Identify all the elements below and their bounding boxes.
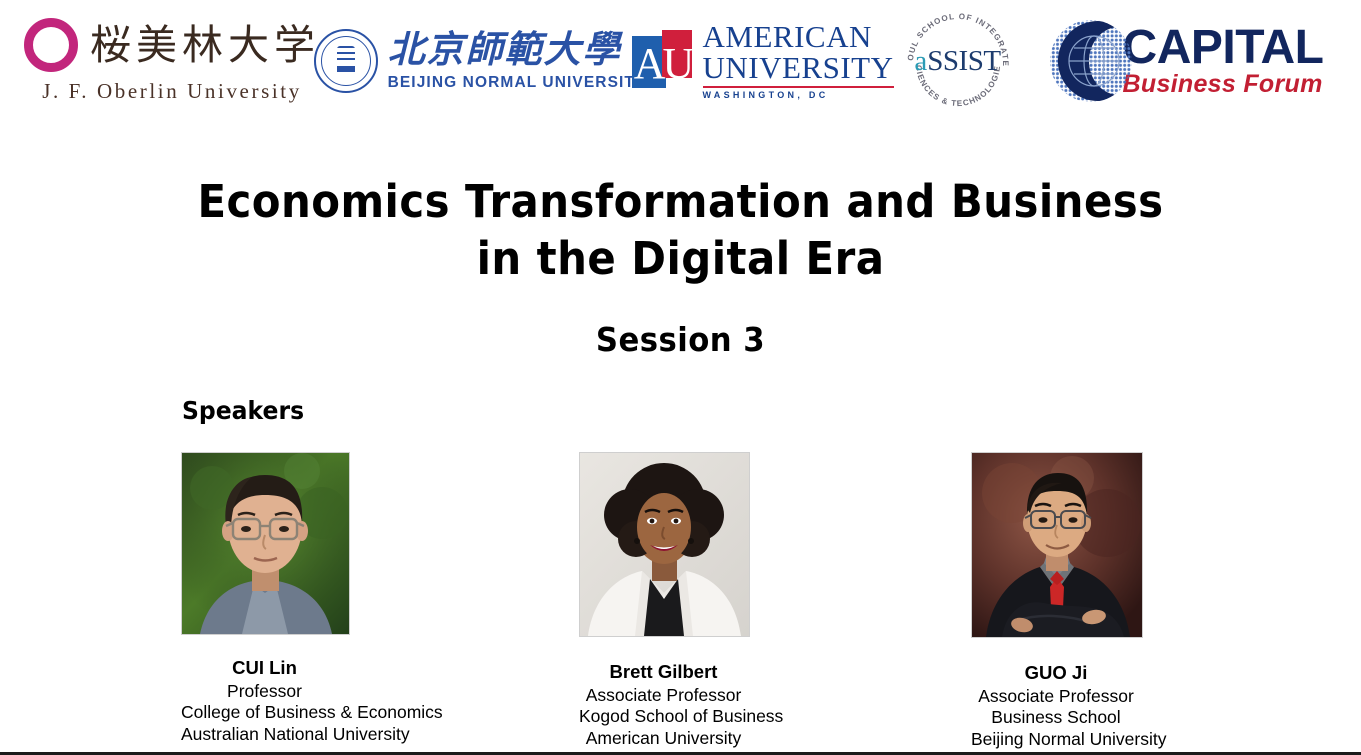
oberlin-flower-icon bbox=[24, 18, 78, 72]
portrait-brett-gilbert bbox=[579, 452, 750, 637]
page-title-line1: Economics Transformation and Business bbox=[48, 173, 1314, 230]
logo-capital-business-forum: CAPITAL Business Forum bbox=[1020, 0, 1350, 122]
bnu-seal-icon bbox=[314, 29, 378, 93]
speaker-caption-cui-lin: CUI Lin Professor College of Business & … bbox=[181, 657, 348, 745]
au-name-line2: UNIVERSITY bbox=[703, 53, 894, 83]
logo-american-university: AU AMERICAN UNIVERSITY WASHINGTON, DC bbox=[630, 0, 895, 122]
logo-jf-oberlin-university: 桜美林大学 J. F. Oberlin University bbox=[0, 0, 330, 122]
page-title: Economics Transformation and Business in… bbox=[48, 173, 1314, 287]
oberlin-cjk-name: 桜美林大学 bbox=[90, 25, 320, 66]
speaker-name: Brett Gilbert bbox=[579, 661, 748, 683]
assist-wordmark: aSSIST bbox=[914, 47, 1000, 76]
speaker-org: Kogod School of Business bbox=[579, 706, 748, 728]
capital-subtitle: Business Forum bbox=[1123, 72, 1324, 97]
bnu-english-name: BEIJING NORMAL UNIVERSITY bbox=[388, 74, 647, 92]
session-heading: Session 3 bbox=[48, 320, 1314, 359]
speaker-caption-brett-gilbert: Brett Gilbert Associate Professor Kogod … bbox=[579, 661, 748, 749]
capital-title: CAPITAL bbox=[1123, 25, 1324, 71]
speakers-section-label: Speakers bbox=[182, 396, 304, 425]
speaker-title: Professor bbox=[181, 681, 348, 703]
speaker-card-cui-lin: CUI Lin Professor College of Business & … bbox=[181, 452, 350, 745]
speaker-caption-guo-ji: GUO Ji Associate Professor Business Scho… bbox=[971, 662, 1141, 750]
au-location: WASHINGTON, DC bbox=[703, 90, 894, 100]
slide: 桜美林大学 J. F. Oberlin University 北京師範大學 BE… bbox=[0, 0, 1361, 755]
speaker-affiliation: Beijing Normal University bbox=[971, 729, 1141, 751]
au-monogram-letters: AU bbox=[632, 30, 694, 92]
bnu-cjk-name: 北京師範大學 bbox=[388, 31, 647, 68]
speaker-org: Business School bbox=[971, 707, 1141, 729]
logo-beijing-normal-university: 北京師範大學 BEIJING NORMAL UNIVERSITY bbox=[330, 0, 630, 122]
speaker-name: CUI Lin bbox=[181, 657, 348, 679]
au-name-line1: AMERICAN bbox=[703, 22, 894, 52]
capital-globe-icon bbox=[1047, 17, 1135, 105]
portrait-cui-lin bbox=[181, 452, 350, 635]
portrait-guo-ji bbox=[971, 452, 1143, 638]
au-monogram-icon: AU bbox=[632, 30, 694, 92]
speaker-affiliation: American University bbox=[579, 728, 748, 750]
speaker-title: Associate Professor bbox=[579, 685, 748, 707]
speaker-card-guo-ji: GUO Ji Associate Professor Business Scho… bbox=[971, 452, 1143, 750]
partner-logo-bar: 桜美林大学 J. F. Oberlin University 北京師範大學 BE… bbox=[0, 0, 1361, 122]
assist-word-a: a bbox=[914, 45, 927, 77]
speaker-name: GUO Ji bbox=[971, 662, 1141, 684]
speaker-affiliation: Australian National University bbox=[181, 724, 348, 746]
au-divider bbox=[703, 86, 894, 88]
speaker-title: Associate Professor bbox=[971, 686, 1141, 708]
page-title-line2: in the Digital Era bbox=[48, 230, 1314, 287]
oberlin-english-name: J. F. Oberlin University bbox=[42, 79, 302, 104]
assist-word-rest: SSIST bbox=[927, 45, 1000, 77]
speaker-org: College of Business & Economics bbox=[181, 702, 348, 724]
speaker-card-brett-gilbert: Brett Gilbert Associate Professor Kogod … bbox=[579, 452, 750, 749]
logo-assist: SEOUL SCHOOL OF INTEGRATED SCIENCES & TE… bbox=[895, 0, 1020, 122]
